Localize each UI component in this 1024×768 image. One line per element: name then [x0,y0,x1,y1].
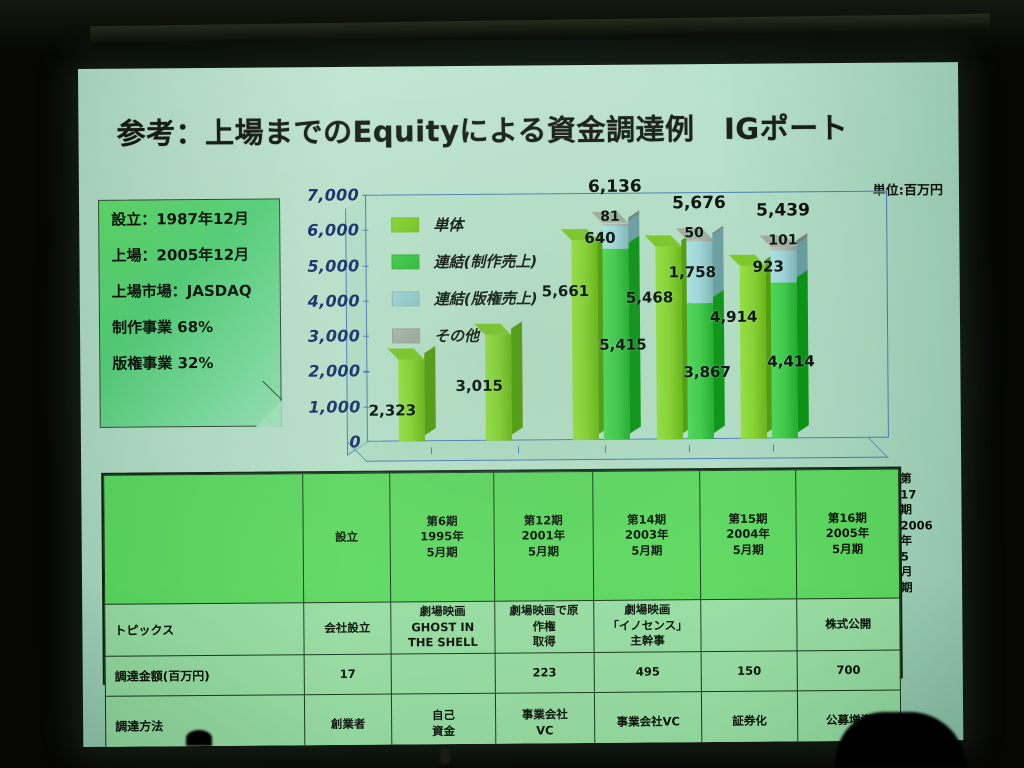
bar-value-label: 640 [584,228,615,246]
y-axis-tick-label: 4,000 [284,291,360,311]
bar-total-label: 6,136 [588,177,642,197]
table-column-header: 第17期2006年5月期 [899,469,900,598]
bar-total-label: 5,439 [756,200,810,220]
y-axis-tick-mark [363,336,369,337]
table-cell: 17 [304,654,392,695]
projected-slide-wrapper: 参考：上場までのEquityによる資金調達例 IGポート 設立：1987年12月… [78,62,963,747]
legend-item-2: 連結(版権売上) [392,287,538,309]
bar-value-label: 5,468 [626,288,674,306]
revenue-bar-chart: 7,0006,0005,0004,0003,0002,0001,0000 単体連… [279,190,941,470]
bar-value-label: 3,867 [683,363,731,381]
table-cell: 株式公開 [796,598,900,651]
table-cell: 223 [495,653,595,694]
table-row: 調達方法創業者自己資金事業会社VC事業会社VC証券化公募増資 [105,690,900,747]
bar-value-label: 50 [684,225,704,241]
y-axis-tick-mark [363,265,369,266]
page-fold-corner [256,400,282,426]
legend-swatch-icon [391,254,419,269]
bar-value-label: 5,415 [599,336,647,354]
table-row-label: 調達金額(百万円) [105,655,304,697]
y-axis-tick-label: 0 [285,432,361,452]
table-cell: 700 [797,650,901,691]
stage-object-silhouette [440,748,450,764]
bar-segment-side [511,321,523,435]
bar-value-label: 2,323 [369,401,417,419]
chart-bar-consolidated: 5,415640816,136 [602,223,630,440]
table-column-header: 第6期1995年5月期 [390,472,494,602]
bar-value-label: 81 [600,209,620,225]
table-cell: 劇場映画「イノセンス」主幹事 [594,600,702,653]
table-cell: 事業会社VC [594,692,702,747]
bar-segment-face [740,265,767,439]
page-fold-line [262,381,282,401]
chart-bar-standalone: 4,914 [740,265,767,439]
table-cell: 証券化 [702,691,798,747]
info-line-production-share: 制作事業 68% [112,319,280,335]
x-axis-tick-mark [605,446,606,453]
bar-value-label: 5,661 [542,282,590,300]
table-header-row: 設立第6期1995年5月期第12期2001年5月期第14期2003年5月期第15… [104,469,900,604]
legend-label: その他 [434,325,479,346]
table-row: 調達金額(百万円)17223495150700 [105,650,900,696]
presentation-slide: 参考：上場までのEquityによる資金調達例 IGポート 設立：1987年12月… [78,62,963,747]
bar-value-label: 1,758 [669,263,717,281]
info-line-listing: 上場：2005年12月 [111,247,279,263]
y-axis-tick-label: 3,000 [284,326,360,346]
x-axis-tick-mark [431,447,432,454]
bar-segment-side [797,269,809,432]
legend-item-1: 連結(制作売上) [391,250,537,272]
bar-segment-face [571,240,599,440]
table-column-header: 第15期2004年5月期 [700,470,796,600]
projection-room-backdrop: 参考：上場までのEquityによる資金調達例 IGポート 設立：1987年12月… [0,0,1024,768]
table-cell: 会社設立 [303,602,391,655]
table-cell: 150 [701,651,797,692]
table-cell: 劇場映画で原作権取得 [494,601,594,654]
legend-swatch-icon [392,291,420,306]
bar-value-label: 4,414 [767,352,815,370]
bar-segment-side [628,235,640,433]
y-axis-tick-label: 2,000 [284,362,360,382]
legend-swatch-icon [392,328,420,343]
y-axis-tick-label: 7,000 [283,185,359,205]
table-column-header: 第14期2003年5月期 [593,471,701,601]
bar-value-label: 923 [753,257,784,275]
table-column-header: 設立 [302,473,390,603]
table-cell: 495 [594,652,702,693]
table-row: トピックス会社設立劇場映画GHOST INTHE SHELL劇場映画で原作権取得… [105,598,900,656]
page-title: 参考：上場までのEquityによる資金調達例 IGポート [116,105,848,153]
table-cell: 事業会社VC [495,693,595,747]
y-axis-tick-label: 5,000 [283,256,359,276]
legend-label: 単体 [433,214,463,235]
table-cell [701,599,797,652]
legend-item-0: 単体 [391,213,537,235]
info-line-rights-share: 版権事業 32% [112,355,280,371]
table-corner-cell [104,474,304,605]
y-axis-tick-mark [362,195,368,196]
table-cell [391,653,495,694]
table-cell: 創業者 [304,694,392,747]
legend-label: 連結(版権売上) [434,287,538,309]
y-axis-tick-mark [362,230,368,231]
legend-label: 連結(制作売上) [433,250,537,272]
info-line-founded: 設立：1987年12月 [111,211,279,227]
bar-value-label: 3,015 [455,376,503,394]
table-cell: 劇場映画GHOST INTHE SHELL [391,601,495,654]
y-axis-tick-mark [363,301,369,302]
bar-value-label: 101 [768,232,797,248]
chart-bar-consolidated: 3,8671,758505,676 [686,239,714,439]
info-line-market: 上場市場：JASDAQ [112,283,280,299]
company-info-box: 設立：1987年12月 上場：2005年12月 上場市場：JASDAQ 制作事業… [98,198,282,427]
y-axis-tick-mark [363,371,369,372]
table-column-header: 第16期2005年5月期 [795,469,899,599]
legend-swatch-icon [391,217,419,232]
x-axis-tick-mark [773,445,774,452]
chart-bar-standalone: 3,015 [485,334,512,441]
chart-floor [347,438,888,462]
x-axis-tick-mark [689,445,690,452]
y-axis-tick-label: 1,000 [285,397,361,417]
audience-head-silhouette-2 [186,730,212,746]
bar-total-label: 5,676 [672,193,726,213]
chart-bar-standalone: 2,323 [398,359,425,441]
bar-segment-side [424,346,436,435]
chart-bar-standalone: 5,661 [571,240,599,440]
table-cell: 自己資金 [392,693,496,747]
y-axis-tick-label: 6,000 [283,221,359,241]
table-row-label: トピックス [105,603,304,657]
chart-bar-consolidated: 4,4149231015,439 [770,246,798,438]
bar-value-label: 4,914 [710,307,758,325]
table-column-header: 第12期2001年5月期 [493,471,593,601]
financing-history-table: 設立第6期1995年5月期第12期2001年5月期第14期2003年5月期第15… [101,467,903,685]
x-axis-tick-mark [518,447,519,454]
